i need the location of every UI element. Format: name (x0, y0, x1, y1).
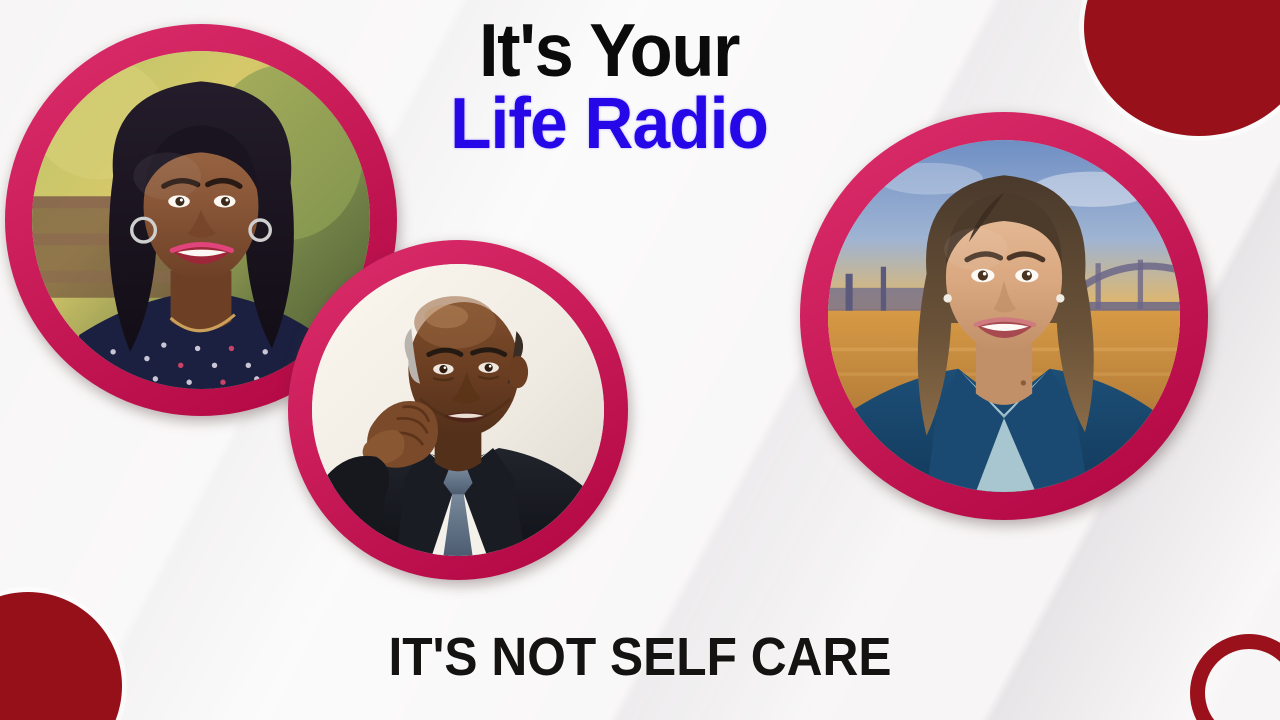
episode-title: IT'S NOT SELF CARE (51, 626, 1229, 688)
portrait-center-photo (312, 264, 604, 556)
show-title: It's Your Life Radio (394, 16, 824, 157)
portrait-right-photo (828, 140, 1180, 492)
show-title-line2: Life Radio (407, 91, 811, 157)
portrait-center (288, 240, 628, 580)
thumbnail-canvas: It's Your Life Radio IT'S NOT SELF CARE (0, 0, 1280, 720)
portrait-right (800, 112, 1208, 520)
show-title-line1: It's Your (407, 16, 811, 85)
